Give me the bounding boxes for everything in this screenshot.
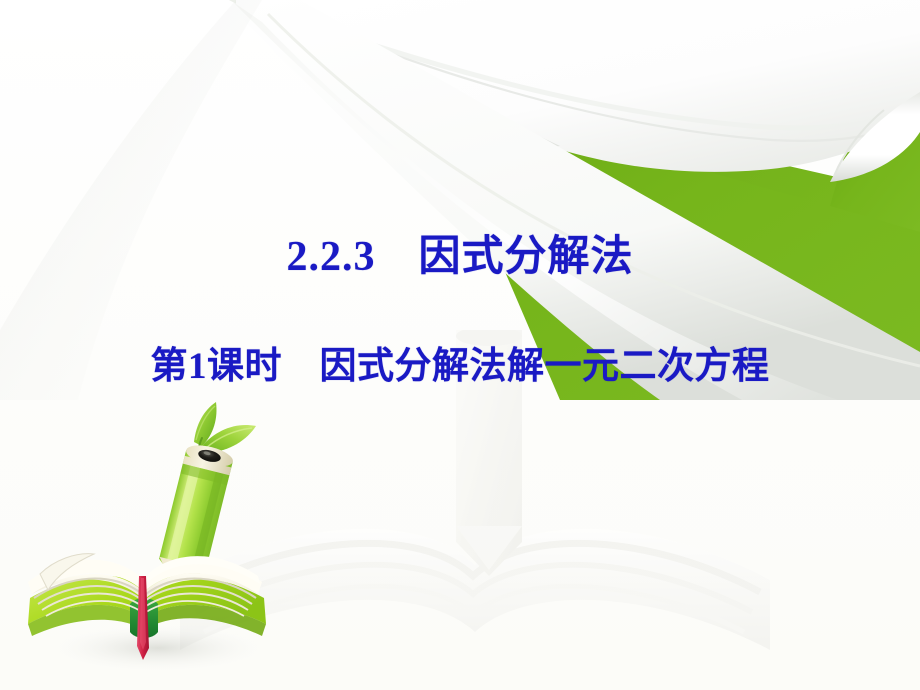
open-book-with-sprouting-pencil-illustration: [18, 398, 288, 678]
page-subtitle: 第1课时 因式分解法解一元二次方程: [0, 348, 920, 385]
page-title: 2.2.3 因式分解法: [0, 236, 920, 278]
slide-canvas: 2.2.3 因式分解法 第1课时 因式分解法解一元二次方程: [0, 0, 920, 690]
curled-paper-corner-decoration: [0, 0, 920, 400]
